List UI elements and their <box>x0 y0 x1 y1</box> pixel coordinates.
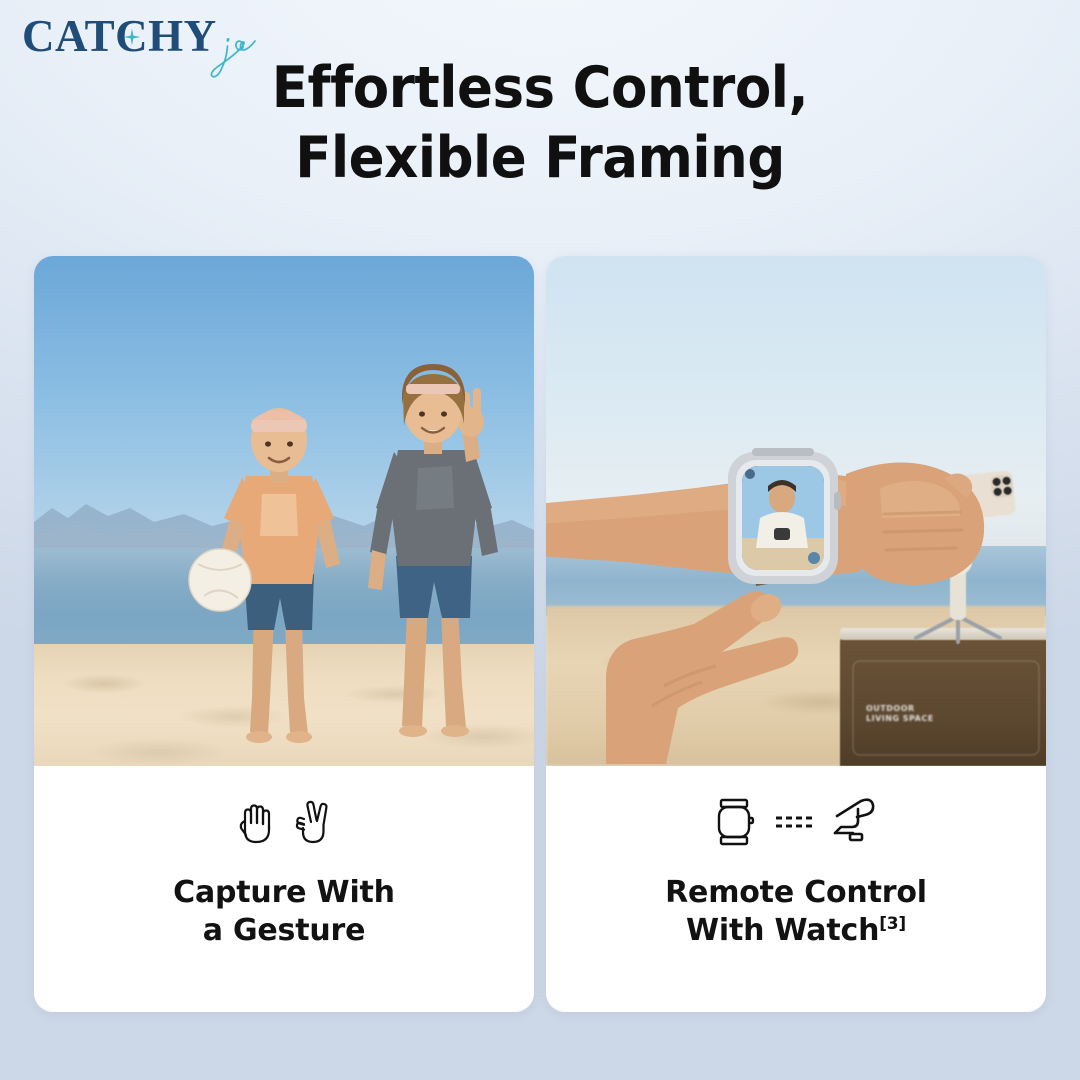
footnote-marker: [3] <box>879 914 906 934</box>
page-title-line-2: Flexible Framing <box>38 124 1042 194</box>
caption-gesture: Capture With a Gesture <box>34 766 534 1012</box>
feature-card-list: Capture With a Gesture OUTDOOR LIVING SP… <box>34 256 1046 1012</box>
product-feature-banner: CATCHY Effortless Control, Flexible Fram… <box>0 0 1080 1080</box>
dashed-link-icon <box>773 796 813 848</box>
sparkle-icon <box>123 29 140 46</box>
child-peace-sign <box>334 338 534 758</box>
brand-wordmark: CATCHY <box>22 14 217 59</box>
brand-wordmark-c: C <box>115 14 148 59</box>
caption-text-watch: Remote Control With Watch[3] <box>665 874 927 951</box>
page-title-line-1: Effortless Control, <box>272 55 808 121</box>
smartwatch-icon <box>713 796 759 848</box>
gimbal-icon <box>827 796 879 848</box>
caption-line-2: With Watch[3] <box>665 912 927 950</box>
page-title: Effortless Control, Flexible Framing <box>38 54 1042 193</box>
photo-beach-kids <box>34 256 534 766</box>
hands-and-watch <box>546 256 1046 766</box>
feature-card-gesture[interactable]: Capture With a Gesture <box>34 256 534 1012</box>
caption-watch: Remote Control With Watch[3] <box>546 766 1046 1012</box>
photo-watch-gimbal: OUTDOOR LIVING SPACE <box>546 256 1046 766</box>
caption-line-2: a Gesture <box>173 912 395 950</box>
open-palm-hand-icon <box>235 799 277 845</box>
caption-line-2-text: With Watch <box>686 913 879 948</box>
caption-line-1: Capture With <box>173 874 395 912</box>
watch-icon-row <box>713 796 879 848</box>
gesture-icon-row <box>235 796 333 848</box>
peace-sign-hand-icon <box>291 799 333 845</box>
caption-text-gesture: Capture With a Gesture <box>173 874 395 951</box>
feature-card-watch[interactable]: OUTDOOR LIVING SPACE <box>546 256 1046 1012</box>
caption-line-1: Remote Control <box>665 874 927 912</box>
